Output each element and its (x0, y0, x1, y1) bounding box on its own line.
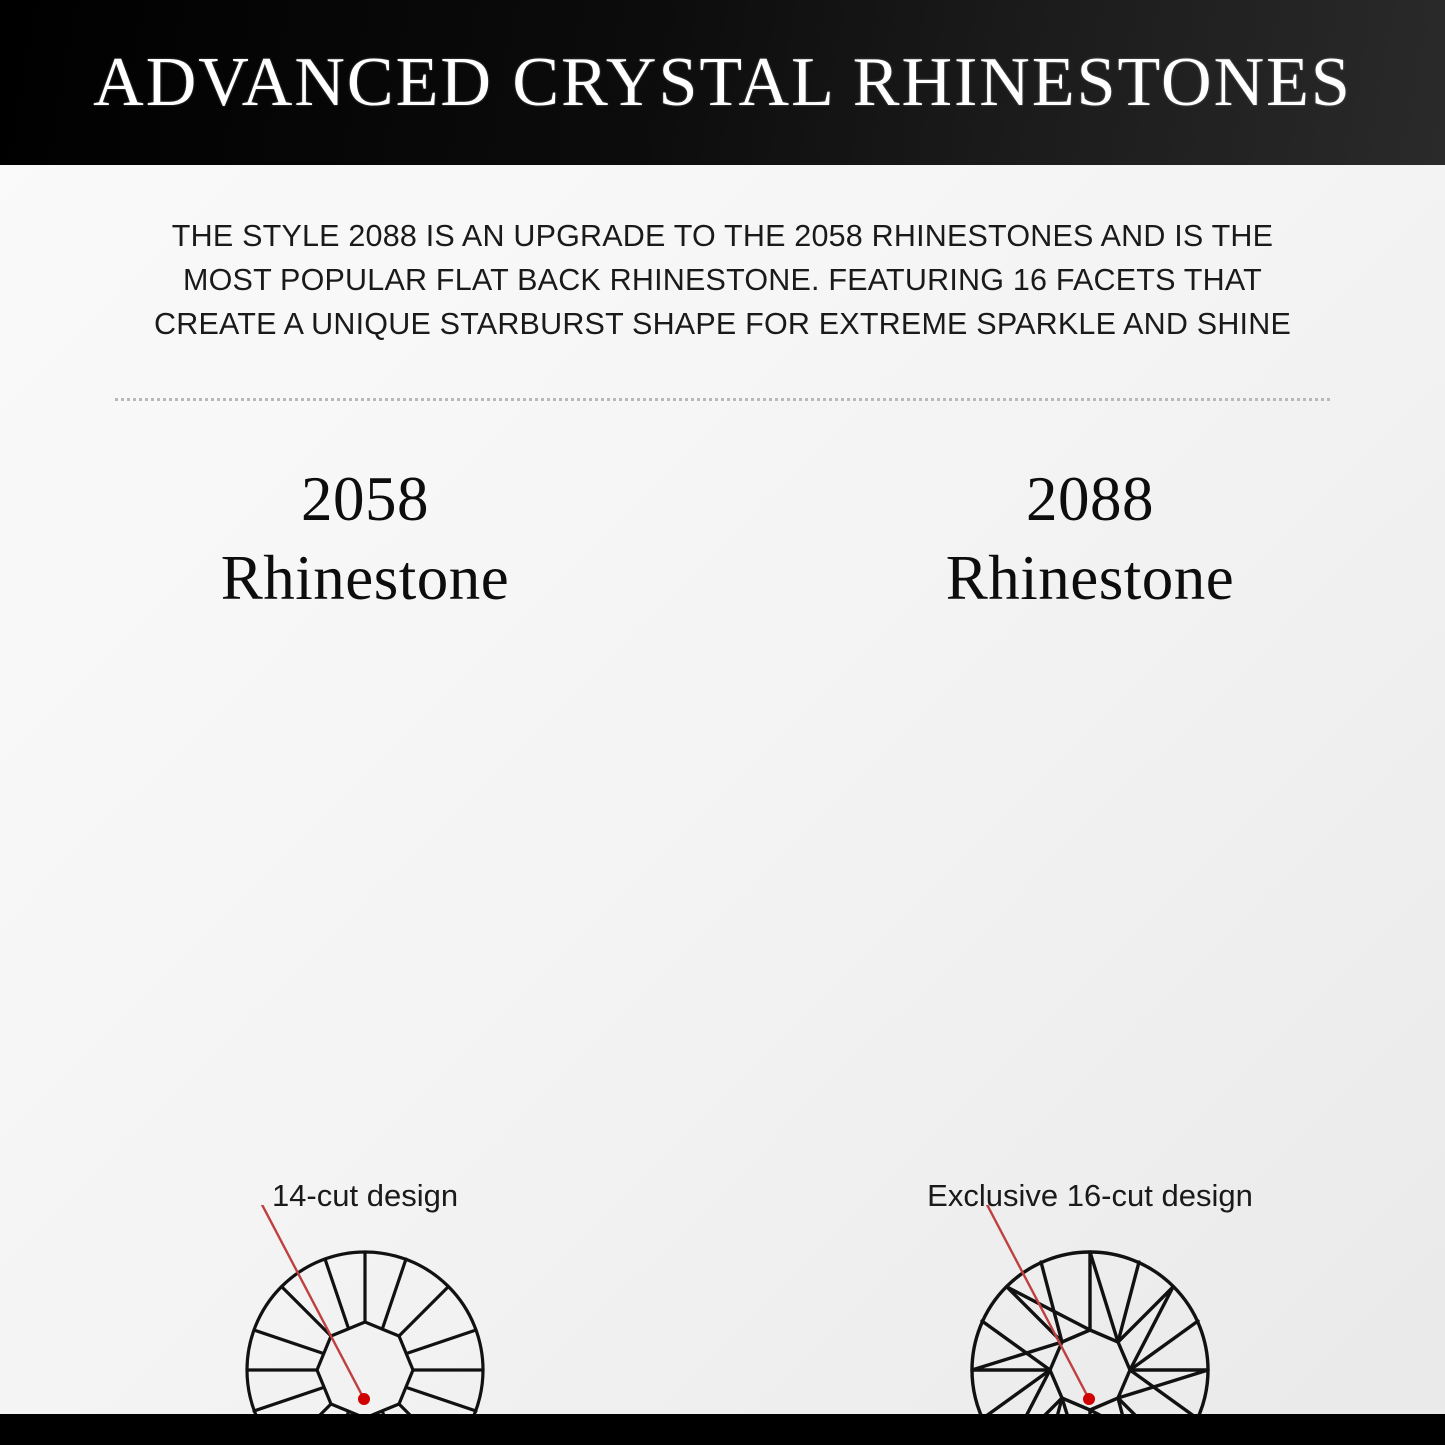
top-view-2088-svg (925, 1205, 1255, 1445)
rhinestone-2088-top-view-diagram (925, 1205, 1255, 1445)
column-heading-2088: 2088 Rhinestone (780, 460, 1400, 618)
column-2088: 2088 Rhinestone Exclusive 16-cut design (780, 460, 1400, 618)
top-view-2058-svg (200, 1205, 530, 1445)
column-2058: 2058 Rhinestone 14-cut design (55, 460, 675, 618)
heading-word-2058: Rhinestone (55, 539, 675, 618)
footer-bar (0, 1414, 1445, 1445)
header-bar: ADVANCED CRYSTAL RHINESTONES (0, 0, 1445, 165)
description-line-3: CREATE A UNIQUE STARBURST SHAPE FOR EXTR… (100, 302, 1345, 346)
description-paragraph: THE STYLE 2088 IS AN UPGRADE TO THE 2058… (100, 214, 1345, 346)
pointer-dot-2058-top (358, 1393, 370, 1405)
heading-number-2058: 2058 (55, 460, 675, 539)
heading-number-2088: 2088 (780, 460, 1400, 539)
rhinestone-2058-top-view-diagram (200, 1205, 530, 1445)
heading-word-2088: Rhinestone (780, 539, 1400, 618)
page-title: ADVANCED CRYSTAL RHINESTONES (93, 43, 1352, 123)
dotted-divider (115, 398, 1330, 401)
description-line-1: THE STYLE 2088 IS AN UPGRADE TO THE 2058… (100, 214, 1345, 258)
description-line-2: MOST POPULAR FLAT BACK RHINESTONE. FEATU… (100, 258, 1345, 302)
pointer-dot-2088-top (1083, 1393, 1095, 1405)
infographic-page: ADVANCED CRYSTAL RHINESTONES THE STYLE 2… (0, 0, 1445, 1445)
column-heading-2058: 2058 Rhinestone (55, 460, 675, 618)
